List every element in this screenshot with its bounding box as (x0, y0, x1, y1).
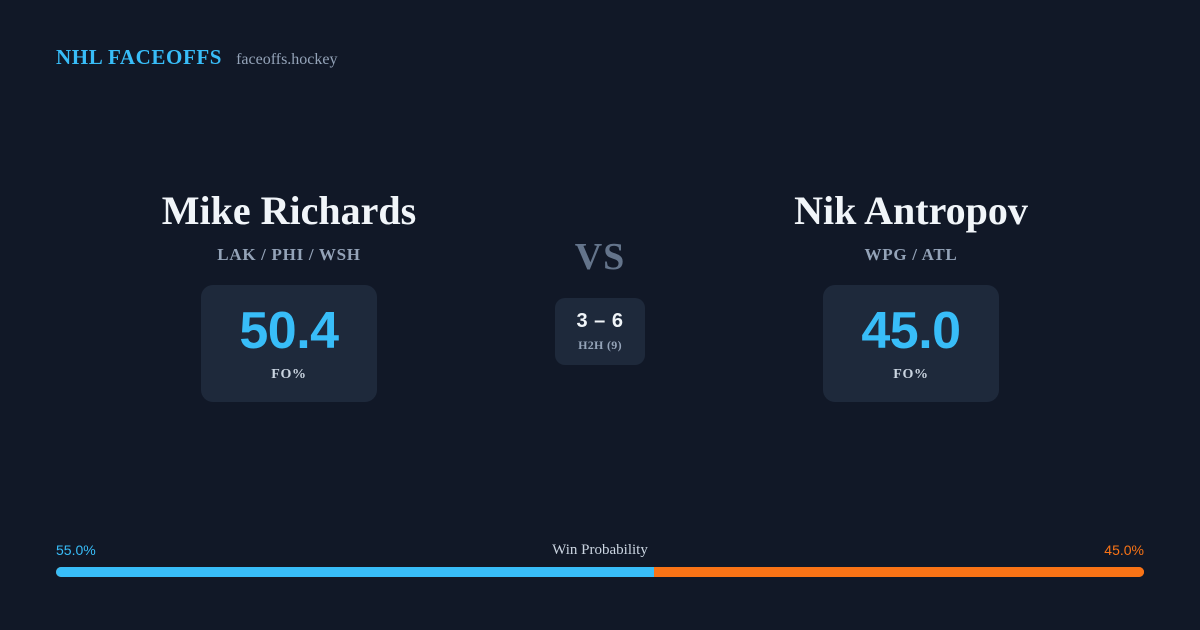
player-right-stat-label: FO% (893, 367, 929, 383)
head-to-head-card: 3 – 6 H2H (9) (555, 298, 645, 365)
site-url: faceoffs.hockey (236, 51, 337, 69)
player-left-teams: LAK / PHI / WSH (54, 245, 524, 265)
win-probability-bar-right-fill (654, 567, 1144, 577)
win-probability-right-value: 45.0% (1104, 540, 1144, 560)
matchup-section: Mike Richards LAK / PHI / WSH 50.4 FO% V… (0, 190, 1200, 430)
header: NHL FACEOFFS faceoffs.hockey (56, 45, 338, 70)
player-right-stat-card: 45.0 FO% (823, 285, 999, 402)
versus-label: VS (524, 238, 676, 276)
win-probability-title: Win Probability (552, 540, 648, 560)
versus-block: VS 3 – 6 H2H (9) (524, 190, 676, 365)
win-probability-bar-left-fill (56, 567, 654, 577)
player-right-faceoff-pct: 45.0 (861, 305, 960, 357)
player-right-teams: WPG / ATL (676, 245, 1146, 265)
win-probability-left-value: 55.0% (56, 540, 96, 560)
player-right: Nik Antropov WPG / ATL 45.0 FO% (676, 190, 1146, 402)
win-probability-section: 55.0% Win Probability 45.0% (56, 540, 1144, 577)
player-left-stat-card: 50.4 FO% (201, 285, 377, 402)
player-left-faceoff-pct: 50.4 (239, 305, 338, 357)
player-left-name: Mike Richards (54, 190, 524, 232)
head-to-head-label: H2H (9) (578, 338, 622, 353)
player-left: Mike Richards LAK / PHI / WSH 50.4 FO% (54, 190, 524, 402)
player-left-stat-label: FO% (271, 367, 307, 383)
infographic-canvas: NHL FACEOFFS faceoffs.hockey Mike Richar… (0, 0, 1200, 630)
player-right-name: Nik Antropov (676, 190, 1146, 232)
win-probability-labels: 55.0% Win Probability 45.0% (56, 540, 1144, 560)
head-to-head-score: 3 – 6 (577, 311, 624, 331)
win-probability-bar (56, 567, 1144, 577)
brand-title: NHL FACEOFFS (56, 45, 222, 70)
